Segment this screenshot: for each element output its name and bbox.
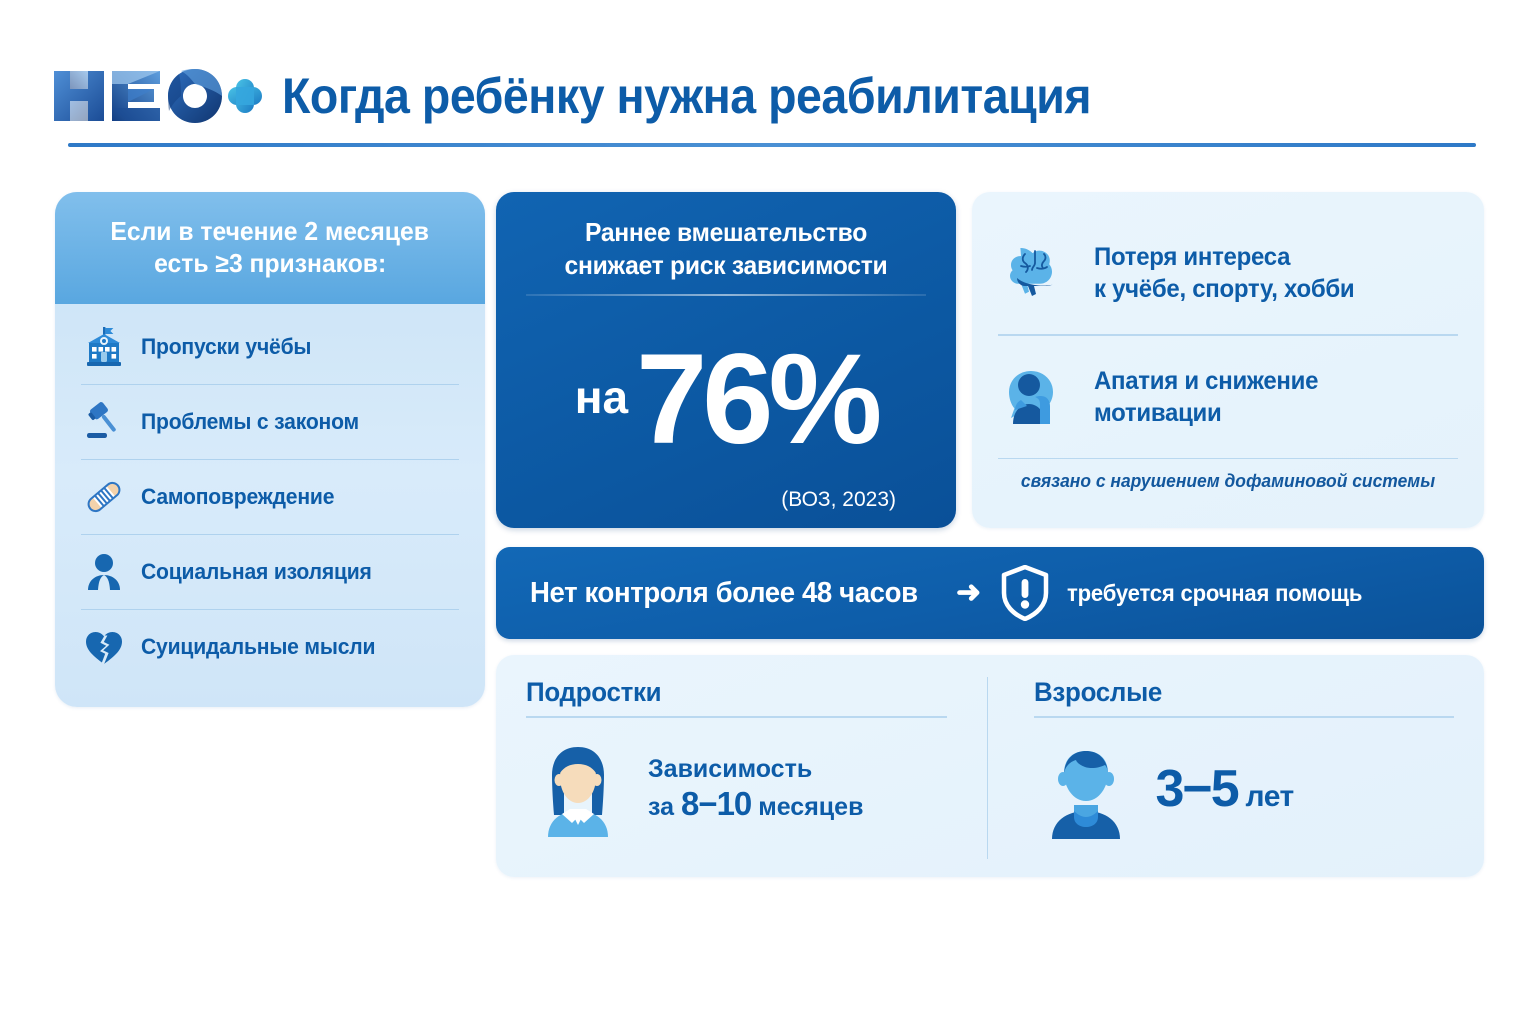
gavel-icon (81, 399, 127, 445)
list-item-label: Пропуски учёбы (141, 334, 311, 360)
compare-text-teens: Зависимость за 8−10 месяцев (648, 754, 947, 824)
list-item-label: Проблемы с законом (141, 409, 359, 435)
neo-plus-logo (52, 68, 264, 124)
compare-divider-adults (1034, 716, 1455, 718)
compare-title-teens: Подростки (526, 677, 930, 708)
arrow-right-icon: ➜ (954, 578, 983, 608)
list-item-label: Социальная изоляция (141, 559, 372, 585)
list-item: Самоповреждение (81, 460, 459, 535)
teens-line2-suffix: месяцев (751, 793, 863, 821)
timeline-compare-card: Подростки (496, 655, 1484, 877)
compare-divider-teens (526, 716, 947, 718)
adults-unit: лет (1238, 780, 1294, 813)
stat-source: (ВОЗ, 2023) (522, 488, 930, 512)
list-item: Проблемы с законом (81, 385, 459, 460)
warning-signs-panel: Если в течение 2 месяцев есть ≥3 признак… (55, 192, 485, 707)
compare-body-adults: 3−5 лет (1034, 720, 1455, 860)
warning-signs-heading: Если в течение 2 месяцев есть ≥3 признак… (55, 192, 485, 304)
stat-value-row: на 76% (522, 296, 930, 511)
list-item: Социальная изоляция (81, 535, 459, 610)
brain-icon (998, 235, 1074, 311)
page-header: Когда ребёнку нужна реабилитация (52, 46, 1484, 146)
stat-value: 76% (636, 339, 877, 461)
adults-value: 3−5 лет (1156, 759, 1294, 819)
teens-line2: за 8−10 месяцев (648, 793, 863, 821)
adults-number: 3−5 (1156, 760, 1238, 818)
teens-value: 8−10 (681, 785, 751, 822)
signs-row-label: Потеря интереса к учёбе, спорту, хобби (1094, 241, 1365, 305)
compare-title-adults: Взрослые (1034, 677, 1438, 708)
bandage-icon (81, 474, 127, 520)
list-item-label: Самоповреждение (141, 484, 334, 510)
urgent-tail-text: требуется срочная помощь (1067, 580, 1362, 607)
person-alone-icon (81, 549, 127, 595)
shield-alert-icon (999, 565, 1051, 621)
signs-row: Апатия и снижение мотивации (998, 336, 1458, 458)
warning-signs-heading-line1: Если в течение 2 месяцев (111, 216, 430, 248)
school-icon (81, 324, 127, 370)
signs-row-line2: к учёбе, спорту, хобби (1094, 273, 1354, 305)
compare-column-teens: Подростки (526, 677, 987, 859)
compare-column-adults: Взрослые 3−5 лет (987, 677, 1455, 859)
stat-prefix: на (575, 374, 628, 420)
stat-heading-line2: снижает риск зависимости (532, 249, 920, 282)
list-item: Пропуски учёбы (81, 310, 459, 385)
page-title: Когда ребёнку нужна реабилитация (282, 71, 1091, 121)
warning-signs-list: Пропуски учёбы Проблемы с законом (55, 304, 485, 694)
infographic-page: Когда ребёнку нужна реабилитация Если в … (0, 0, 1536, 1024)
apathy-icon (998, 359, 1074, 435)
urgent-main-text: Нет контроля более 48 часов (530, 577, 918, 610)
signs-row: Потеря интереса к учёбе, спорту, хобби (998, 212, 1458, 334)
signs-row-label: Апатия и снижение мотивации (1094, 365, 1327, 429)
warning-signs-heading-line2: есть ≥3 признаков: (154, 248, 386, 280)
stat-heading: Раннее вмешательство снижает риск зависи… (522, 216, 930, 281)
signs-row-line1: Потеря интереса (1094, 241, 1354, 273)
signs-row-line2: мотивации (1094, 397, 1318, 429)
signs-footnote: связано с нарушением дофаминовой системы (1005, 459, 1451, 492)
header-divider (68, 143, 1476, 147)
list-item-label: Суицидальные мысли (141, 634, 375, 660)
list-item: Суицидальные мысли (81, 610, 459, 684)
early-intervention-stat-card: Раннее вмешательство снижает риск зависи… (496, 192, 956, 528)
urgent-help-banner: Нет контроля более 48 часов ➜ требуется … (496, 547, 1484, 639)
stat-heading-line1: Раннее вмешательство (532, 216, 920, 249)
teen-girl-avatar (526, 737, 630, 841)
behaviour-signs-card: Потеря интереса к учёбе, спорту, хобби А… (972, 192, 1484, 528)
teens-line2-prefix: за (648, 793, 681, 821)
signs-row-line1: Апатия и снижение (1094, 365, 1318, 397)
adult-man-avatar (1034, 737, 1138, 841)
compare-body-teens: Зависимость за 8−10 месяцев (526, 720, 947, 860)
teens-line1: Зависимость (648, 755, 812, 783)
broken-heart-icon (81, 624, 127, 670)
